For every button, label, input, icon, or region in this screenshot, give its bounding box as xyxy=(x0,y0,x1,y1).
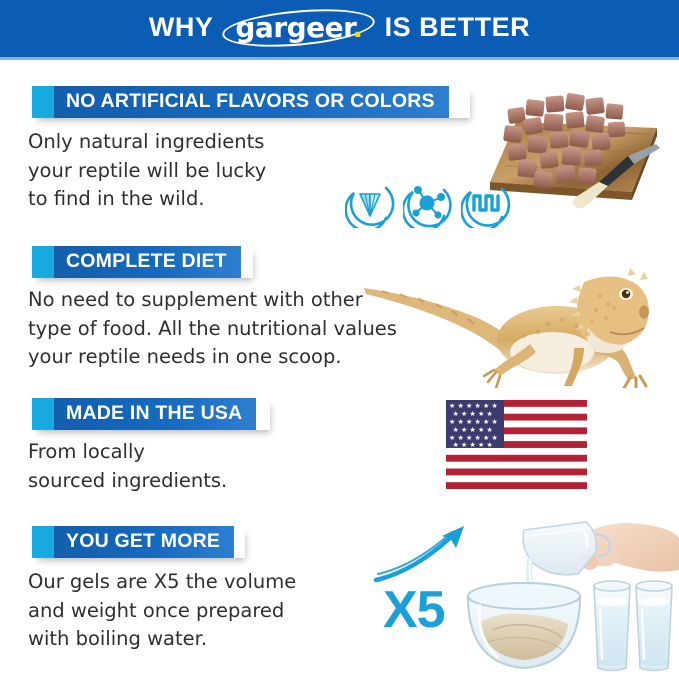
svg-text:★ ★ ★ ★ ★: ★ ★ ★ ★ ★ xyxy=(453,441,493,449)
brand-dot: . xyxy=(352,11,362,44)
banner-label: YOU GET MORE xyxy=(66,532,220,552)
header-prefix: WHY xyxy=(149,12,214,43)
header-divider xyxy=(0,57,679,60)
svg-text:★ ★ ★ ★ ★ ★: ★ ★ ★ ★ ★ ★ xyxy=(449,418,498,426)
section-body-text: From locally sourced ingredients. xyxy=(28,438,227,495)
bearded-dragon-photo xyxy=(352,236,679,388)
brand-logo-text: gargeer. xyxy=(235,11,362,44)
protein-helix-icon xyxy=(461,178,511,228)
header-title: WHY gargeer. IS BETTER xyxy=(149,11,530,44)
banner-body: NO ARTIFICIAL FLAVORS OR COLORS xyxy=(54,86,449,118)
banner-accent-block xyxy=(32,86,54,118)
hand-pouring-water-into-bowl-photo xyxy=(372,518,679,678)
section-made-in-usa: MADE IN THE USA From locally sourced ing… xyxy=(0,392,679,514)
header-suffix: IS BETTER xyxy=(385,12,531,43)
svg-text:★ ★ ★ ★ ★: ★ ★ ★ ★ ★ xyxy=(453,410,493,418)
banner-accent-block xyxy=(32,398,54,430)
brand-logo: gargeer. xyxy=(222,11,375,44)
section-banner: COMPLETE DIET xyxy=(32,246,253,278)
svg-text:★ ★ ★ ★ ★: ★ ★ ★ ★ ★ xyxy=(453,426,493,434)
section-body-text: Only natural ingredients your reptile wi… xyxy=(28,128,266,214)
banner-body: YOU GET MORE xyxy=(54,526,234,558)
section-banner: MADE IN THE USA xyxy=(32,398,270,430)
feature-badges xyxy=(345,178,511,228)
molecule-icon xyxy=(403,178,453,228)
svg-text:★ ★ ★ ★ ★ ★: ★ ★ ★ ★ ★ ★ xyxy=(449,402,498,410)
section-complete-diet: COMPLETE DIET No need to supplement with… xyxy=(0,240,679,390)
banner-accent-block xyxy=(32,246,54,278)
banner-label: NO ARTIFICIAL FLAVORS OR COLORS xyxy=(66,92,435,112)
banner-label: COMPLETE DIET xyxy=(66,252,227,272)
banner-body: MADE IN THE USA xyxy=(54,398,256,430)
vitamin-icon xyxy=(345,178,395,228)
section-banner: YOU GET MORE xyxy=(32,526,245,558)
header-banner: WHY gargeer. IS BETTER xyxy=(0,0,679,57)
banner-label: MADE IN THE USA xyxy=(66,404,242,424)
section-banner: NO ARTIFICIAL FLAVORS OR COLORS xyxy=(32,86,470,118)
section-no-artificial-flavors: NO ARTIFICIAL FLAVORS OR COLORS Only nat… xyxy=(0,78,679,238)
banner-accent-block xyxy=(32,526,54,558)
section-you-get-more: YOU GET MORE Our gels are X5 the volume … xyxy=(0,518,679,679)
banner-body: COMPLETE DIET xyxy=(54,246,241,278)
usa-flag-image: ★ ★ ★ ★ ★ ★ ★ ★ ★ ★ ★ ★ ★ ★ ★ ★ ★ ★ ★ ★ … xyxy=(444,398,590,492)
brand-name: gargeer xyxy=(235,11,352,44)
section-body-text: No need to supplement with other type of… xyxy=(28,286,397,372)
section-body-text: Our gels are X5 the volume and weight on… xyxy=(28,568,296,654)
infographic-page: WHY gargeer. IS BETTER NO ARTIFICIAL FLA… xyxy=(0,0,679,679)
